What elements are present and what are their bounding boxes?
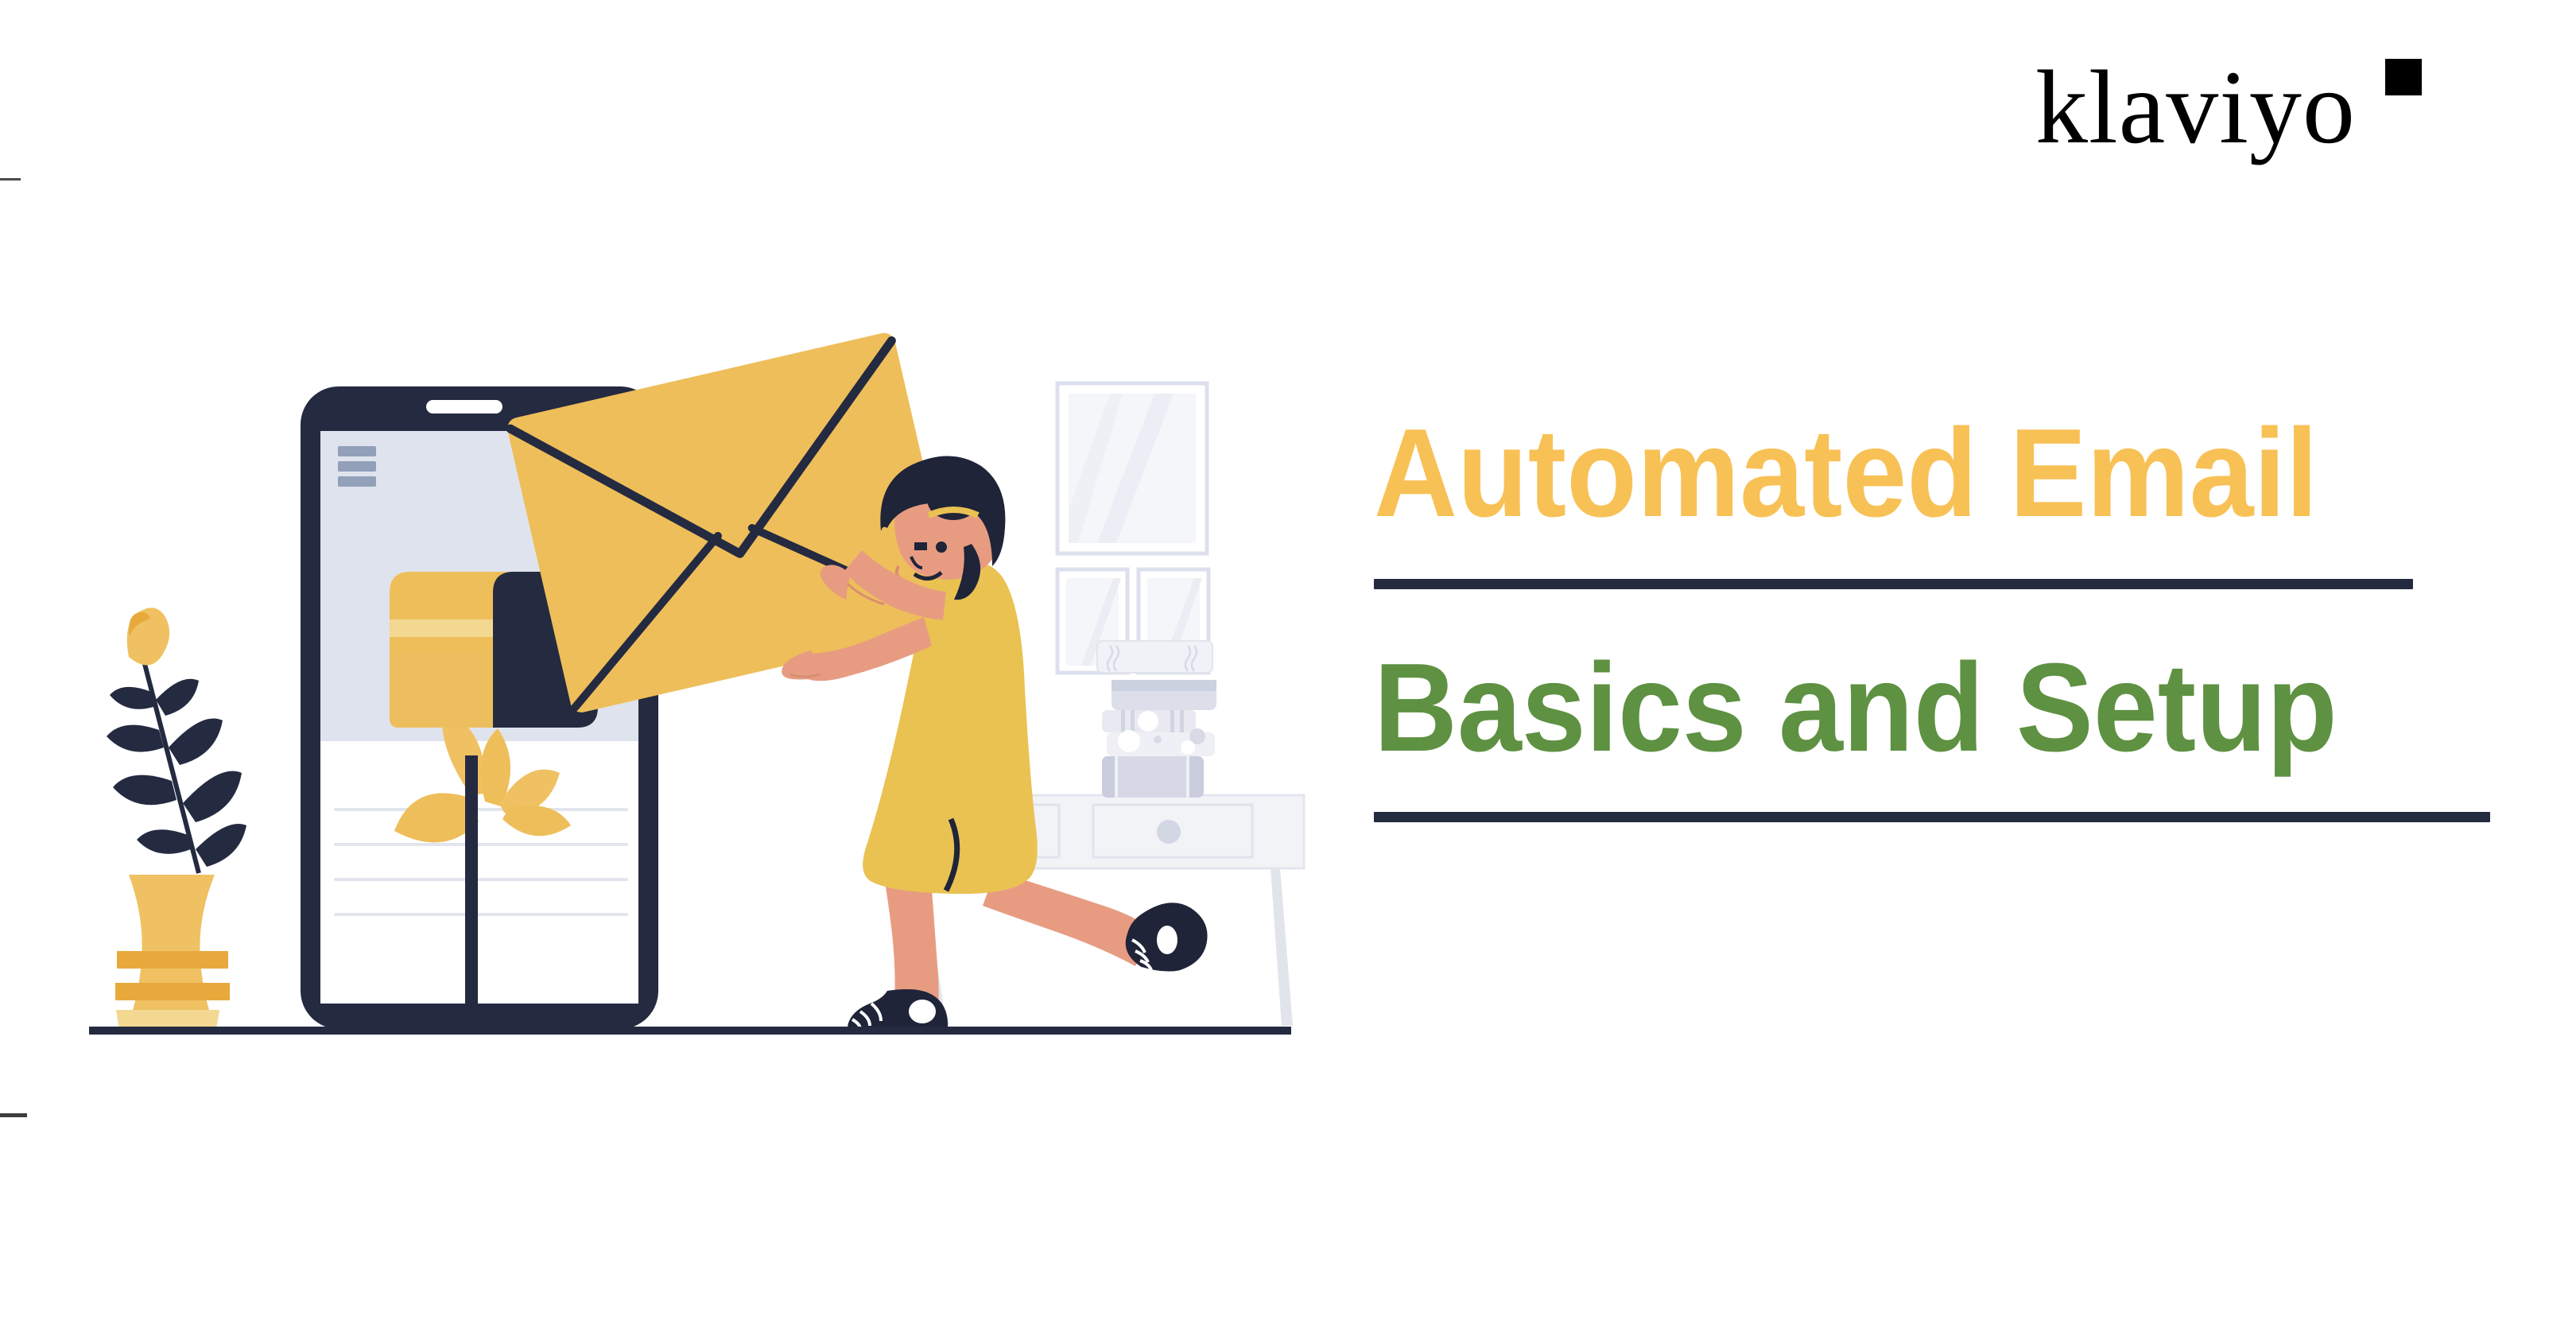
floor-line: [89, 1027, 1291, 1035]
headline-divider-top: [1374, 579, 2413, 589]
klaviyo-logo[interactable]: klaviyo: [2035, 56, 2449, 159]
headline-divider-bottom: [1374, 812, 2490, 822]
vase-with-plant: [107, 608, 246, 1034]
headline-block: Automated Email Basics and Setup: [1374, 414, 2503, 822]
headline-line-2-wrap: Basics and Setup: [1374, 648, 2503, 767]
hero-illustration: [0, 0, 1352, 1177]
poster-canvas: klaviyo Automated Email Basics and Setup: [0, 0, 2576, 1324]
book-stack: [1097, 641, 1216, 798]
headline-line-2: Basics and Setup: [1374, 648, 2412, 767]
phone-menu-lines: [338, 446, 376, 487]
headline-line-1: Automated Email: [1374, 414, 2412, 533]
klaviyo-square-icon: [2385, 59, 2422, 95]
klaviyo-wordmark: klaviyo: [2035, 56, 2356, 159]
wall-frames: [1057, 383, 1208, 673]
